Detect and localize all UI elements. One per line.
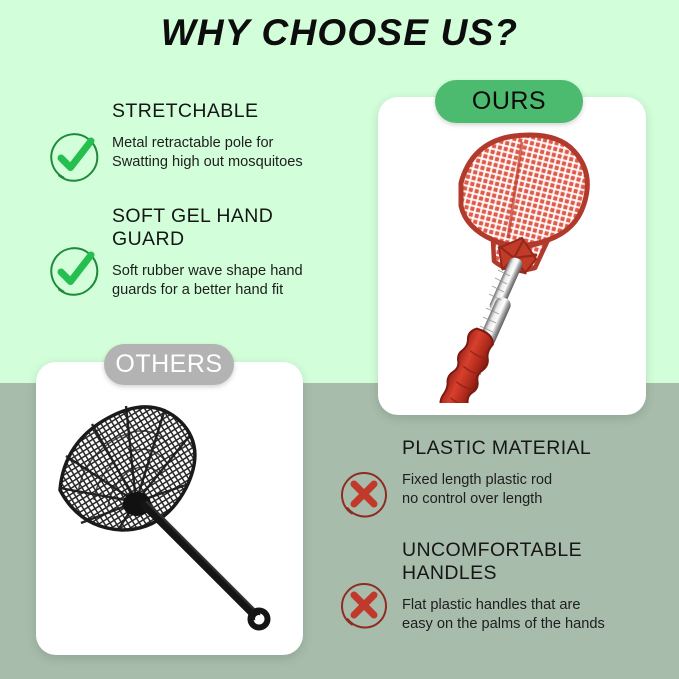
- comparison-infographic: WHY CHOOSE US? STRETCHABLE Metal retract…: [0, 0, 679, 679]
- feature-body: Fixed length plastic rod no control over…: [402, 471, 666, 509]
- feature-heading: STRETCHABLE: [112, 100, 366, 123]
- feature-heading: UNCOMFORTABLE HANDLES: [402, 539, 672, 585]
- black-plastic-fly-swatter-image: [48, 378, 293, 646]
- badge-ours: OURS: [435, 80, 583, 123]
- feature-text: UNCOMFORTABLE HANDLES Flat plastic handl…: [402, 539, 672, 634]
- feature-plastic-material: PLASTIC MATERIAL Fixed length plastic ro…: [336, 437, 666, 522]
- page-title: WHY CHOOSE US?: [0, 12, 679, 54]
- feature-text: STRETCHABLE Metal retractable pole for S…: [112, 100, 366, 172]
- cross-circle-icon: [336, 466, 392, 522]
- check-circle-icon: [46, 129, 102, 185]
- cross-circle-icon: [336, 577, 392, 633]
- check-circle-icon: [46, 243, 102, 299]
- feature-body: Metal retractable pole for Swatting high…: [112, 134, 366, 172]
- badge-others: OTHERS: [104, 344, 234, 385]
- feature-soft-gel-hand-guard: SOFT GEL HAND GUARD Soft rubber wave sha…: [46, 205, 366, 300]
- red-telescopic-fly-swatter-image: [398, 118, 628, 403]
- feature-stretchable: STRETCHABLE Metal retractable pole for S…: [46, 100, 366, 185]
- feature-text: SOFT GEL HAND GUARD Soft rubber wave sha…: [112, 205, 366, 300]
- feature-body: Flat plastic handles that are easy on th…: [402, 596, 672, 634]
- feature-uncomfortable-handles: UNCOMFORTABLE HANDLES Flat plastic handl…: [336, 539, 672, 634]
- feature-body: Soft rubber wave shape hand guards for a…: [112, 262, 366, 300]
- feature-text: PLASTIC MATERIAL Fixed length plastic ro…: [402, 437, 666, 509]
- feature-heading: PLASTIC MATERIAL: [402, 437, 666, 460]
- feature-heading: SOFT GEL HAND GUARD: [112, 205, 366, 251]
